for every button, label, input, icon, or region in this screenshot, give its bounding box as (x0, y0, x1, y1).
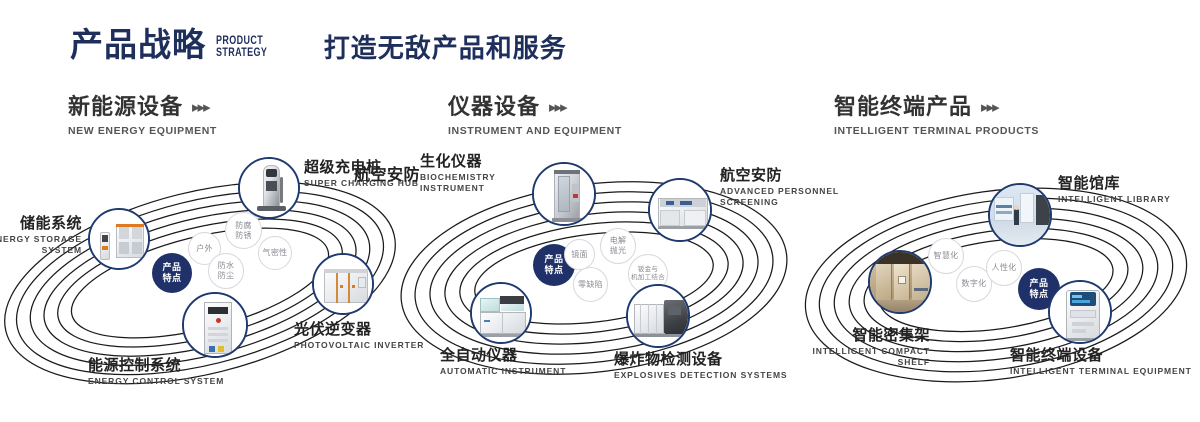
cluster-new-energy: 产品 特点 户外 防腐防锈 防水防尘 气密性 (0, 150, 400, 400)
section-title-cn: 新能源设备 (68, 96, 183, 118)
page-header: 产品战略 PRODUCT STRATEGY 打造无敌产品和服务 (70, 28, 567, 61)
node-intelligent-library[interactable] (988, 183, 1052, 247)
feature-bubble: 人性化 (986, 250, 1022, 286)
chevron-right-icon: ▸▸▸ (981, 100, 998, 115)
cluster-intelligent-terminal: 产品 特点 智慧化 数字化 人性化 智 (800, 150, 1200, 400)
node-compact-shelf[interactable] (868, 250, 932, 314)
product-strategy-infographic: 产品战略 PRODUCT STRATEGY 打造无敌产品和服务 新能源设备 ▸▸… (0, 0, 1200, 422)
cluster-instrument: 产品 特点 镜面 电解抛光 零缺陷 钣金与机加工结合 (398, 150, 798, 400)
node-label-energy-control-system: 能源控制系统 ENERGY CONTROL SYSTEM (88, 358, 224, 386)
section-title-en: INTELLIGENT TERMINAL PRODUCTS (834, 125, 1039, 137)
feature-bubble: 零缺陷 (573, 267, 608, 302)
node-explosives-detection[interactable] (626, 284, 690, 348)
node-label-intelligent-library: 智能馆库 INTELLIGENT LIBRARY (1058, 176, 1171, 204)
section-title-new-energy: 新能源设备 ▸▸▸ NEW ENERGY EQUIPMENT (68, 96, 217, 137)
page-title-english: PRODUCT STRATEGY (216, 36, 267, 59)
feature-bubble: 电解抛光 (600, 228, 636, 264)
side-label-aviation-security: 航空安防 (354, 168, 420, 184)
page-title-english-line2: STRATEGY (216, 48, 267, 60)
feature-bubble: 防水防尘 (208, 253, 244, 289)
node-energy-storage[interactable] (88, 208, 150, 270)
node-super-charging-hub[interactable] (238, 157, 300, 219)
node-label-terminal-equipment: 智能终端设备 INTELLIGENT TERMINAL EQUIPMENT (1010, 348, 1192, 376)
node-label-biochemistry-instrument: 生化仪器 BIOCHEMISTRY INSTRUMENT (420, 154, 496, 192)
feature-bubble: 气密性 (258, 236, 292, 270)
page-subtitle: 打造无敌产品和服务 (324, 35, 567, 61)
page-title: 产品战略 (70, 28, 206, 61)
node-biochemistry-instrument[interactable] (532, 162, 596, 226)
node-label-compact-shelf: 智能密集架 INTELLIGENT COMPACT SHELF (742, 328, 930, 366)
section-title-intelligent-terminal: 智能终端产品 ▸▸▸ INTELLIGENT TERMINAL PRODUCTS (834, 96, 1039, 137)
feature-bubble: 智慧化 (928, 238, 964, 274)
core-bubble: 产品 特点 (152, 253, 192, 293)
chevron-right-icon: ▸▸▸ (549, 100, 566, 115)
node-personnel-screening[interactable] (648, 178, 712, 242)
page-title-english-line1: PRODUCT (216, 36, 267, 48)
section-title-cn: 仪器设备 (448, 96, 540, 118)
node-automatic-instrument[interactable] (470, 282, 532, 344)
section-title-cn: 智能终端产品 (834, 96, 972, 118)
node-pv-inverter[interactable] (312, 253, 374, 315)
node-terminal-equipment[interactable] (1048, 280, 1112, 344)
chevron-right-icon: ▸▸▸ (192, 100, 209, 115)
feature-bubble: 防腐防锈 (225, 212, 262, 249)
node-label-energy-storage: 储能系统 ENERGY STORAGE SYSTEM (0, 216, 82, 254)
section-title-en: NEW ENERGY EQUIPMENT (68, 125, 217, 137)
section-title-instrument: 仪器设备 ▸▸▸ INSTRUMENT AND EQUIPMENT (448, 96, 622, 137)
feature-bubble: 镜面 (564, 239, 595, 270)
node-energy-control-system[interactable] (182, 292, 248, 358)
section-title-en: INSTRUMENT AND EQUIPMENT (448, 125, 622, 137)
node-label-automatic-instrument: 全自动仪器 AUTOMATIC INSTRUMENT (440, 348, 566, 376)
